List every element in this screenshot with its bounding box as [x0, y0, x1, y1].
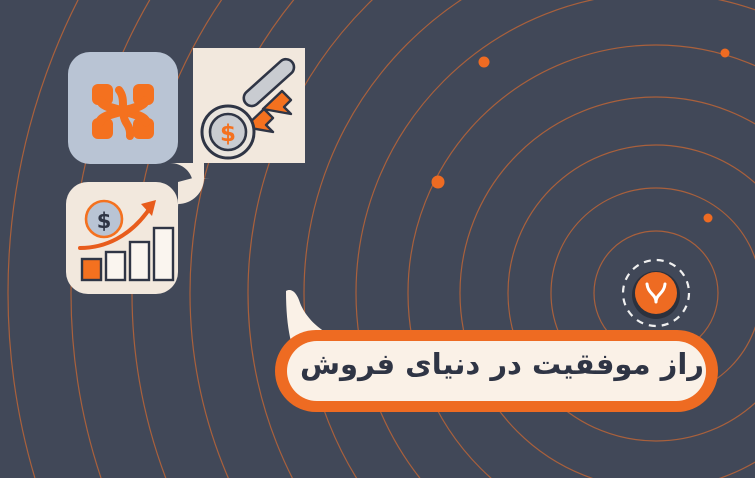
poster-canvas: $ $ راز موفقیت در د	[0, 0, 755, 478]
banner-title: راز موفقیت در دنیای فروش	[300, 336, 704, 392]
text-layer: راز موفقیت در دنیای فروش	[0, 0, 755, 478]
